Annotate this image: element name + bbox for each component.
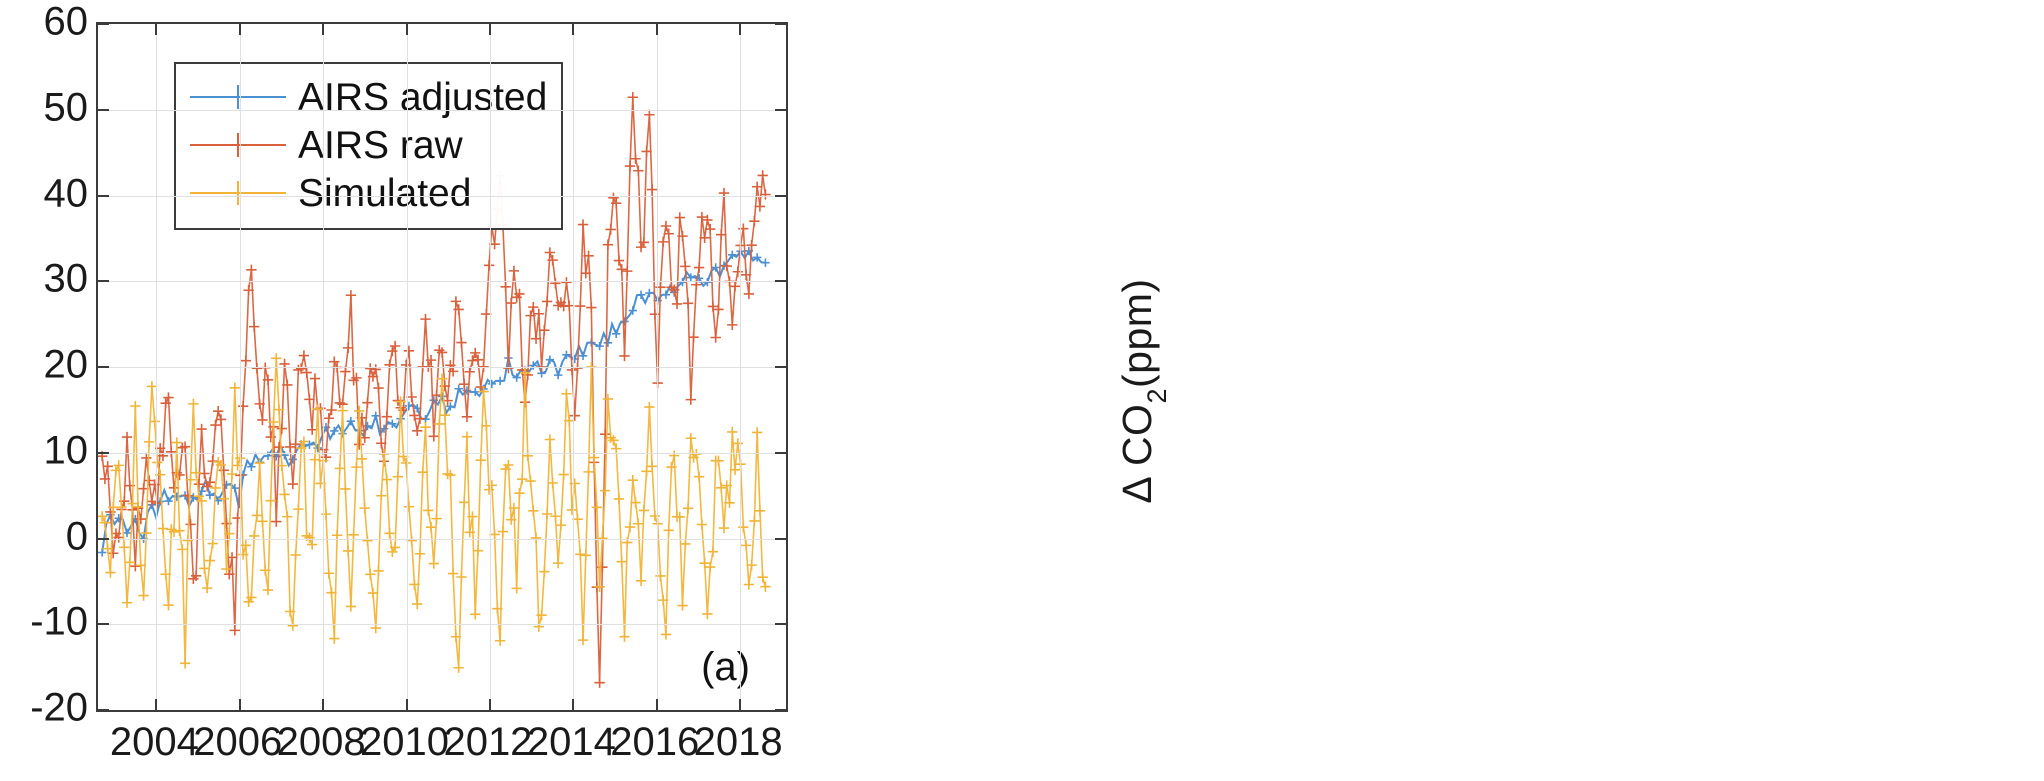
panel-b: Δ CO2(ppm) -10010203040 2004200620082010…	[1022, 0, 2044, 781]
series-marker-plus-icon	[210, 483, 220, 493]
series-marker-plus-icon	[713, 304, 723, 314]
series-marker-plus-icon	[277, 423, 287, 433]
series-marker-plus-icon	[188, 574, 198, 584]
series-marker-plus-icon	[246, 265, 256, 275]
y-axis-tick-right	[775, 538, 786, 540]
series-marker-plus-icon	[263, 585, 273, 595]
series-marker-plus-icon	[720, 261, 728, 269]
series-marker-plus-icon	[459, 379, 469, 389]
series-marker-plus-icon	[456, 337, 466, 347]
series-marker-plus-icon	[680, 261, 690, 271]
series-marker-plus-icon	[376, 438, 386, 448]
series-marker-plus-icon	[514, 488, 524, 498]
series-marker-plus-icon	[534, 309, 544, 319]
series-marker-plus-icon	[347, 417, 355, 425]
series-marker-plus-icon	[612, 330, 620, 338]
series-marker-plus-icon	[571, 355, 579, 363]
series-marker-plus-icon	[504, 354, 512, 362]
series-marker-plus-icon	[727, 320, 737, 330]
series-marker-plus-icon	[587, 338, 595, 346]
series-marker-plus-icon	[384, 360, 394, 370]
series-marker-plus-icon	[144, 475, 154, 485]
series-marker-plus-icon	[174, 525, 184, 535]
series-marker-plus-icon	[216, 460, 226, 470]
series-marker-plus-icon	[547, 255, 557, 265]
series-marker-plus-icon	[550, 511, 560, 521]
series-marker-plus-icon	[368, 371, 378, 381]
grid-line-horizontal	[98, 624, 786, 625]
series-marker-plus-icon	[183, 491, 193, 501]
series-marker-plus-icon	[622, 266, 632, 276]
series-marker-plus-icon	[733, 438, 743, 448]
series-marker-plus-icon	[426, 522, 436, 532]
series-marker-plus-icon	[713, 456, 723, 466]
series-marker-plus-icon	[509, 266, 519, 276]
series-marker-plus-icon	[496, 377, 504, 385]
series-marker-plus-icon	[282, 380, 292, 390]
grid-line-vertical	[740, 24, 741, 710]
series-marker-plus-icon	[644, 402, 654, 412]
x-axis-tick-top	[239, 24, 241, 35]
panel-a-legend: AIRS adjustedAIRS rawSimulated	[174, 62, 563, 230]
series-marker-plus-icon	[365, 363, 375, 373]
series-marker-plus-icon	[343, 546, 353, 556]
series-marker-plus-icon	[255, 399, 265, 409]
series-marker-plus-icon	[539, 567, 549, 577]
series-marker-plus-icon	[221, 564, 231, 574]
series-marker-plus-icon	[413, 404, 421, 412]
grid-line-vertical	[657, 24, 658, 710]
series-marker-plus-icon	[388, 420, 396, 428]
panel-a-ytick-labels: -20-100102030405060	[2, 22, 88, 708]
x-axis-tick-top	[489, 24, 491, 35]
series-marker-plus-icon	[343, 343, 353, 353]
series-marker-plus-icon	[119, 542, 129, 552]
x-axis-tick-top	[155, 24, 157, 35]
series-marker-plus-icon	[130, 561, 140, 571]
series-marker-plus-icon	[338, 429, 346, 437]
series-marker-plus-icon	[152, 457, 162, 467]
series-marker-plus-icon	[285, 442, 295, 452]
grid-line-vertical	[156, 24, 157, 710]
series-marker-plus-icon	[579, 352, 587, 360]
series-marker-plus-icon	[164, 497, 172, 505]
series-marker-plus-icon	[514, 289, 524, 299]
series-marker-plus-icon	[161, 398, 171, 408]
legend-item[interactable]: AIRS adjusted	[190, 73, 547, 121]
series-marker-plus-icon	[373, 383, 383, 393]
series-marker-plus-icon	[545, 434, 555, 444]
series-marker-plus-icon	[252, 510, 262, 520]
series-marker-plus-icon	[260, 565, 270, 575]
series-marker-plus-icon	[191, 468, 201, 478]
panel-b-ylabel: Δ CO2(ppm)	[1114, 278, 1167, 503]
series-marker-plus-icon	[578, 635, 588, 645]
legend-item[interactable]: AIRS raw	[190, 121, 547, 169]
y-axis-tick-right	[775, 623, 786, 625]
series-marker-plus-icon	[340, 484, 350, 494]
series-marker-plus-icon	[666, 462, 676, 472]
series-marker-plus-icon	[608, 193, 618, 203]
series-marker-plus-icon	[442, 469, 452, 479]
series-marker-plus-icon	[415, 414, 425, 424]
series-marker-plus-icon	[487, 480, 497, 490]
x-axis-tick-top	[739, 24, 741, 35]
series-marker-plus-icon	[688, 332, 698, 342]
series-marker-plus-icon	[161, 569, 171, 579]
y-tick-label: -20	[30, 686, 88, 731]
series-marker-plus-icon	[677, 231, 687, 241]
series-marker-plus-icon	[503, 363, 513, 373]
series-marker-plus-icon	[465, 527, 475, 537]
series-marker-plus-icon	[617, 557, 627, 567]
series-marker-plus-icon	[672, 299, 682, 309]
grid-line-horizontal	[98, 453, 786, 454]
series-marker-plus-icon	[722, 261, 732, 271]
series-marker-plus-icon	[351, 462, 361, 472]
series-marker-plus-icon	[355, 427, 363, 435]
series-marker-plus-icon	[637, 291, 645, 299]
series-marker-plus-icon	[354, 406, 364, 416]
series-marker-plus-icon	[755, 506, 765, 516]
x-axis-tick	[739, 699, 741, 710]
series-marker-plus-icon	[365, 569, 375, 579]
series-marker-plus-icon	[758, 572, 768, 582]
series-marker-plus-icon	[467, 511, 477, 521]
series-marker-plus-icon	[382, 412, 392, 422]
series-marker-plus-icon	[730, 465, 740, 475]
x-axis-tick	[155, 699, 157, 710]
series-marker-plus-icon	[744, 579, 754, 589]
series-marker-plus-icon	[506, 298, 516, 308]
series-marker-plus-icon	[694, 472, 704, 482]
series-marker-plus-icon	[305, 441, 313, 449]
series-marker-plus-icon	[636, 242, 646, 252]
series-marker-plus-icon	[473, 545, 483, 555]
series-marker-plus-icon	[172, 437, 182, 447]
series-marker-plus-icon	[749, 216, 759, 226]
series-marker-plus-icon	[177, 442, 187, 452]
series-marker-plus-icon	[746, 560, 756, 570]
series-marker-plus-icon	[407, 392, 417, 402]
series-marker-plus-icon	[382, 474, 392, 484]
series-marker-plus-icon	[677, 600, 687, 610]
series-marker-plus-icon	[712, 263, 720, 271]
series-marker-plus-icon	[98, 548, 106, 556]
series-marker-plus-icon	[686, 433, 696, 443]
series-marker-plus-icon	[106, 511, 114, 519]
series-marker-plus-icon	[247, 463, 255, 471]
series-marker-plus-icon	[592, 502, 602, 512]
series-marker-plus-icon	[556, 520, 566, 530]
series-marker-plus-icon	[271, 516, 281, 526]
series-marker-plus-icon	[368, 588, 378, 598]
series-marker-plus-icon	[299, 436, 309, 446]
series-marker-plus-icon	[529, 361, 537, 369]
series-marker-plus-icon	[288, 479, 298, 489]
series-marker-plus-icon	[531, 334, 541, 344]
series-marker-plus-icon	[559, 301, 569, 311]
series-marker-plus-icon	[658, 237, 668, 247]
series-marker-plus-icon	[100, 518, 110, 528]
series-marker-plus-icon	[456, 572, 466, 582]
series-marker-plus-icon	[719, 523, 729, 533]
series-marker-plus-icon	[138, 590, 148, 600]
series-marker-plus-icon	[202, 583, 212, 593]
series-marker-plus-icon	[537, 369, 545, 377]
series-marker-plus-icon	[606, 433, 616, 443]
series-marker-plus-icon	[512, 292, 522, 302]
series-marker-plus-icon	[335, 398, 345, 408]
series-marker-plus-icon	[705, 562, 715, 572]
series-marker-plus-icon	[445, 470, 455, 480]
series-marker-plus-icon	[255, 458, 265, 468]
series-marker-plus-icon	[213, 457, 223, 467]
y-axis-tick	[98, 366, 109, 368]
series-marker-plus-icon	[462, 412, 472, 422]
y-axis-tick	[98, 623, 109, 625]
series-marker-plus-icon	[395, 403, 405, 413]
series-marker-plus-icon	[125, 481, 135, 491]
series-marker-plus-icon	[711, 332, 721, 342]
series-marker-plus-icon	[122, 598, 132, 608]
series-marker-plus-icon	[641, 146, 651, 156]
series-marker-plus-icon	[500, 282, 510, 292]
series-marker-plus-icon	[196, 424, 206, 434]
series-marker-plus-icon	[752, 182, 762, 192]
grid-line-horizontal	[98, 367, 786, 368]
series-marker-plus-icon	[407, 535, 417, 545]
series-marker-plus-icon	[131, 515, 139, 523]
series-marker-plus-icon	[570, 478, 580, 488]
series-marker-plus-icon	[722, 480, 732, 490]
series-marker-plus-icon	[362, 398, 372, 408]
series-marker-plus-icon	[105, 507, 115, 517]
y-tick-label: 60	[44, 0, 89, 45]
series-marker-plus-icon	[586, 302, 596, 312]
y-axis-tick-right	[775, 195, 786, 197]
series-marker-plus-icon	[114, 460, 124, 470]
series-marker-plus-icon	[185, 475, 195, 485]
y-tick-label: 30	[44, 257, 89, 302]
series-marker-plus-icon	[525, 476, 535, 486]
series-marker-plus-icon	[393, 395, 403, 405]
series-marker-plus-icon	[138, 483, 148, 493]
series-marker-plus-icon	[307, 425, 317, 435]
grid-line-vertical	[323, 24, 324, 710]
y-tick-label: 10	[44, 428, 89, 473]
series-marker-plus-icon	[446, 402, 454, 410]
series-marker-plus-icon	[658, 595, 668, 605]
series-marker-plus-icon	[666, 282, 676, 292]
series-marker-plus-icon	[716, 483, 726, 493]
series-marker-plus-icon	[263, 375, 273, 385]
x-axis-tick-top	[322, 24, 324, 35]
series-marker-plus-icon	[271, 353, 281, 363]
series-marker-plus-icon	[230, 383, 240, 393]
legend-item[interactable]: Simulated	[190, 169, 547, 217]
series-marker-plus-icon	[575, 549, 585, 559]
series-marker-plus-icon	[241, 540, 251, 550]
series-marker-plus-icon	[630, 154, 640, 164]
series-marker-plus-icon	[148, 501, 156, 509]
y-axis-tick-right	[775, 709, 786, 711]
series-marker-plus-icon	[639, 505, 649, 515]
series-marker-plus-icon	[208, 456, 218, 466]
series-marker-plus-icon	[752, 427, 762, 437]
y-axis-tick	[98, 109, 109, 111]
series-marker-plus-icon	[625, 522, 635, 532]
y-tick-label: 20	[44, 343, 89, 388]
series-marker-plus-icon	[600, 429, 610, 439]
series-marker-plus-icon	[553, 558, 563, 568]
series-marker-plus-icon	[98, 511, 107, 521]
series-marker-plus-icon	[426, 355, 436, 365]
series-marker-plus-icon	[210, 420, 220, 430]
series-marker-plus-icon	[181, 491, 189, 499]
series-marker-plus-icon	[337, 405, 347, 415]
series-marker-plus-icon	[188, 399, 198, 409]
series-marker-plus-icon	[108, 502, 118, 512]
series-marker-plus-icon	[476, 382, 486, 392]
series-marker-plus-icon	[285, 606, 295, 616]
series-marker-plus-icon	[546, 356, 554, 364]
series-marker-plus-icon	[219, 465, 229, 475]
series-marker-plus-icon	[279, 489, 289, 499]
series-airs-adjusted	[98, 247, 770, 557]
series-marker-plus-icon	[758, 170, 768, 180]
y-tick-label: -10	[30, 600, 88, 645]
series-marker-plus-icon	[136, 514, 146, 524]
series-marker-plus-icon	[330, 427, 338, 435]
series-marker-plus-icon	[525, 310, 535, 320]
series-marker-plus-icon	[520, 368, 530, 378]
series-marker-plus-icon	[675, 512, 685, 522]
series-marker-plus-icon	[471, 388, 479, 396]
series-marker-plus-icon	[246, 592, 256, 602]
series-marker-plus-icon	[556, 297, 566, 307]
series-marker-plus-icon	[528, 506, 538, 516]
series-marker-plus-icon	[727, 427, 737, 437]
grid-line-horizontal	[98, 110, 786, 111]
series-marker-plus-icon	[111, 465, 121, 475]
series-marker-plus-icon	[664, 525, 674, 535]
series-marker-plus-icon	[274, 404, 284, 414]
series-marker-plus-icon	[542, 296, 552, 306]
series-marker-plus-icon	[163, 600, 173, 610]
grid-line-horizontal	[98, 281, 786, 282]
series-marker-plus-icon	[606, 224, 616, 234]
series-marker-plus-icon	[180, 441, 190, 451]
series-marker-plus-icon	[662, 291, 670, 299]
series-marker-plus-icon	[243, 597, 253, 607]
series-marker-plus-icon	[266, 496, 276, 506]
series-marker-plus-icon	[645, 289, 653, 297]
series-marker-plus-icon	[597, 562, 607, 572]
series-marker-plus-icon	[409, 410, 419, 420]
series-marker-plus-icon	[691, 449, 701, 459]
series-marker-plus-icon	[503, 460, 513, 470]
series-marker-plus-icon	[288, 620, 298, 630]
series-marker-plus-icon	[430, 396, 438, 404]
series-marker-plus-icon	[683, 503, 693, 513]
x-axis-tick	[656, 699, 658, 710]
series-marker-plus-icon	[745, 247, 753, 255]
series-marker-plus-icon	[431, 513, 441, 523]
series-marker-plus-icon	[337, 399, 347, 409]
series-marker-plus-icon	[196, 496, 206, 506]
series-marker-plus-icon	[206, 491, 214, 499]
panel-a: Δ CO2(ppm) -20-100102030405060 200420062…	[0, 0, 1022, 781]
series-marker-plus-icon	[371, 364, 381, 374]
series-marker-plus-icon	[379, 449, 389, 459]
series-marker-plus-icon	[578, 219, 588, 229]
series-marker-plus-icon	[313, 404, 323, 414]
series-marker-plus-icon	[753, 253, 761, 261]
series-marker-plus-icon	[373, 566, 383, 576]
y-axis-tick	[98, 195, 109, 197]
series-marker-plus-icon	[476, 455, 486, 465]
x-tick-label: 2010	[360, 720, 449, 765]
series-marker-plus-icon	[297, 440, 305, 448]
series-marker-plus-icon	[249, 321, 259, 331]
series-marker-plus-icon	[348, 375, 358, 385]
panel-a-letter: (a)	[701, 645, 750, 690]
series-marker-plus-icon	[647, 461, 657, 471]
series-marker-plus-icon	[554, 371, 562, 379]
series-marker-plus-icon	[314, 444, 322, 452]
series-marker-plus-icon	[185, 519, 195, 529]
x-axis-tick-top	[406, 24, 408, 35]
series-marker-plus-icon	[744, 289, 754, 299]
series-marker-plus-icon	[644, 110, 654, 120]
series-marker-plus-icon	[550, 278, 560, 288]
series-marker-plus-icon	[619, 632, 629, 642]
series-marker-plus-icon	[683, 298, 693, 308]
x-tick-label: 2006	[193, 720, 282, 765]
y-axis-tick	[98, 23, 109, 25]
series-marker-plus-icon	[243, 285, 253, 295]
series-marker-plus-icon	[600, 485, 610, 495]
series-marker-plus-icon	[553, 300, 563, 310]
series-marker-plus-icon	[629, 306, 637, 314]
series-marker-plus-icon	[141, 453, 151, 463]
x-axis-tick	[406, 699, 408, 710]
series-marker-plus-icon	[509, 503, 519, 513]
x-axis-tick-top	[656, 24, 658, 35]
series-marker-plus-icon	[395, 396, 405, 406]
series-marker-plus-icon	[372, 412, 380, 420]
series-marker-plus-icon	[570, 410, 580, 420]
series-marker-plus-icon	[567, 505, 577, 515]
panel-b-ylabel-suffix: (ppm)	[1114, 278, 1160, 388]
series-marker-plus-icon	[699, 233, 709, 243]
series-marker-plus-icon	[528, 302, 538, 312]
grid-line-vertical	[490, 24, 491, 710]
series-marker-plus-icon	[697, 519, 707, 529]
series-marker-plus-icon	[412, 599, 422, 609]
series-marker-plus-icon	[630, 497, 640, 507]
series-marker-plus-icon	[114, 532, 124, 542]
series-marker-plus-icon	[604, 339, 612, 347]
series-marker-plus-icon	[465, 367, 475, 377]
series-marker-plus-icon	[420, 314, 430, 324]
series-marker-plus-icon	[174, 470, 184, 480]
x-axis-tick	[489, 699, 491, 710]
series-marker-plus-icon	[592, 582, 602, 592]
series-marker-plus-icon	[512, 583, 522, 593]
series-marker-plus-icon	[363, 422, 371, 430]
